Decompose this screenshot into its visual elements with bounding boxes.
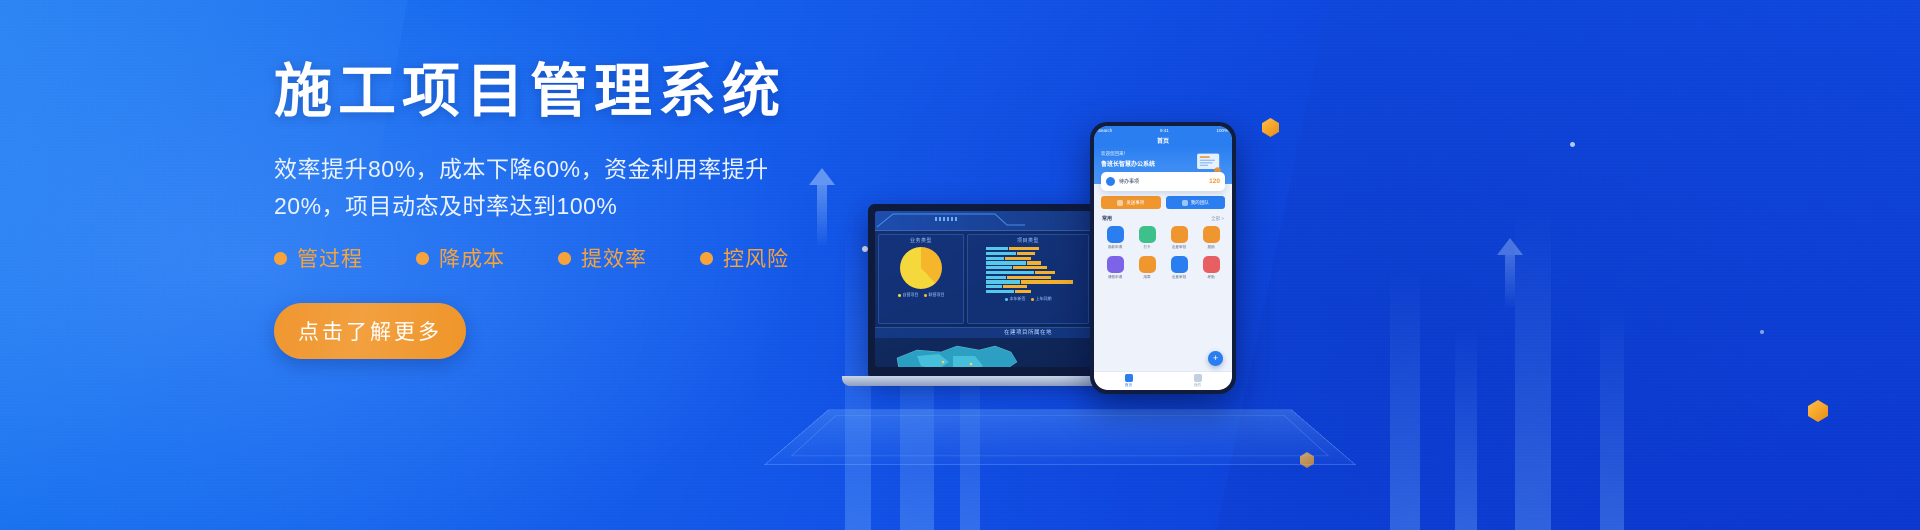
phone-todo-row: 待办事项 120 xyxy=(1106,177,1220,186)
bullet-item: 控风险 xyxy=(700,243,789,273)
up-arrow-icon xyxy=(1492,238,1528,307)
learn-more-button[interactable]: 点击了解更多 xyxy=(274,303,466,359)
bar-chart-panel: 项目类型 xyxy=(967,234,1089,324)
bullet-dot-icon xyxy=(700,252,713,265)
app-tile[interactable]: 出差审批 xyxy=(1164,226,1194,250)
app-tile[interactable]: 考勤 xyxy=(1196,256,1226,280)
bar-row xyxy=(986,266,1086,269)
decor-light-column xyxy=(1515,210,1551,530)
pie-chart-title: 业务类型 xyxy=(881,237,961,244)
phone-section-more[interactable]: 全部 > xyxy=(1211,216,1224,222)
home-icon xyxy=(1125,374,1133,382)
trip-approval-icon xyxy=(1171,256,1188,273)
china-map-icon xyxy=(883,340,1033,367)
bullet-dot-icon xyxy=(558,252,571,265)
phone-todo-card[interactable]: 待办事项 120 xyxy=(1101,172,1225,191)
send-icon xyxy=(1117,200,1123,206)
page-title: 施工项目管理系统 xyxy=(274,62,834,123)
seal-usage-icon xyxy=(1139,256,1156,273)
feature-bullet-list: 管过程 降成本 提效率 控风险 xyxy=(274,243,834,273)
bullet-dot-icon xyxy=(274,252,287,265)
app-label: 报销 xyxy=(1207,245,1214,250)
legend-item: 自营项目 xyxy=(898,292,919,298)
bar-row xyxy=(986,276,1086,279)
business-trip-icon xyxy=(1171,226,1188,243)
phone-nav-title: 首页 xyxy=(1157,136,1169,145)
decor-cube xyxy=(1808,400,1828,422)
phone-section-header: 常用 全部 > xyxy=(1094,209,1232,224)
subtitle-line-2: 20%，项目动态及时率达到100% xyxy=(274,193,617,219)
dashboard-header-deco-icon xyxy=(875,211,1025,231)
status-time: 9:41 xyxy=(1160,128,1169,133)
leave-request-icon xyxy=(1107,256,1124,273)
phone-todo-label: 待办事项 xyxy=(1119,178,1139,185)
payment-request-icon xyxy=(1107,226,1124,243)
reimbursement-icon xyxy=(1203,226,1220,243)
phone-section-title: 常用 xyxy=(1102,215,1112,222)
add-fab-button[interactable]: + xyxy=(1208,351,1223,366)
bullet-dot-icon xyxy=(416,252,429,265)
bar-chart-title: 项目类型 xyxy=(970,237,1086,244)
app-label: 请假申请 xyxy=(1108,275,1122,280)
status-carrier: Search xyxy=(1098,128,1112,133)
app-tile[interactable]: 请假申请 xyxy=(1100,256,1130,280)
app-label: 用章 xyxy=(1143,275,1150,280)
pie-chart-legend: 自营项目 联营项目 xyxy=(881,292,961,298)
send-task-button[interactable]: 发送事项 xyxy=(1101,196,1161,209)
bullet-label: 降成本 xyxy=(439,243,505,273)
tab-home[interactable]: 首页 xyxy=(1125,374,1133,388)
bullet-item: 降成本 xyxy=(416,243,505,273)
team-icon xyxy=(1182,200,1188,206)
my-team-button[interactable]: 我的团队 xyxy=(1166,196,1226,209)
bar-row xyxy=(986,257,1086,260)
phone-status-bar: Search 9:41 100% xyxy=(1094,126,1232,135)
app-tile[interactable]: 用章 xyxy=(1132,256,1162,280)
user-icon xyxy=(1194,374,1202,382)
pie-chart xyxy=(900,247,942,289)
bar-chart xyxy=(970,247,1086,293)
phone-app-grid-row2: 请假申请 用章 出差审批 考勤 xyxy=(1094,254,1232,280)
phone-mockup: Search 9:41 100% 首页 欢迎您回来！ 鲁班长智慧办公系统 xyxy=(1090,122,1236,394)
bar-row xyxy=(986,280,1086,283)
app-label: 出差审批 xyxy=(1172,245,1186,250)
decor-dot xyxy=(1760,330,1764,334)
decor-light-column xyxy=(1600,305,1624,530)
promo-banner: 施工项目管理系统 效率提升80%，成本下降60%，资金利用率提升 20%，项目动… xyxy=(0,0,1920,530)
banner-content: 施工项目管理系统 效率提升80%，成本下降60%，资金利用率提升 20%，项目动… xyxy=(274,62,834,359)
app-tile[interactable]: 用款申请 xyxy=(1100,226,1130,250)
send-task-label: 发送事项 xyxy=(1126,200,1144,206)
decor-light-column xyxy=(1455,330,1477,530)
bar-row xyxy=(986,261,1086,264)
bar-row xyxy=(986,271,1086,274)
decor-light-column xyxy=(1390,270,1420,530)
tab-label: 首页 xyxy=(1125,383,1132,388)
subtitle-line-1: 效率提升80%，成本下降60%，资金利用率提升 xyxy=(274,156,769,182)
tab-label: 我的 xyxy=(1194,383,1201,388)
bar-chart-legend: 本年新签 上年同期 xyxy=(970,296,1086,302)
clipboard-icon xyxy=(1106,177,1115,186)
app-label: 用款申请 xyxy=(1108,245,1122,250)
phone-tab-bar: 首页 我的 xyxy=(1094,371,1232,390)
phone-nav-bar: 首页 xyxy=(1094,135,1232,146)
app-label: 出差审批 xyxy=(1172,275,1186,280)
phone-screen: Search 9:41 100% 首页 欢迎您回来！ 鲁班长智慧办公系统 xyxy=(1094,126,1232,390)
device-stage: 市场管理报表 业务类型 自营项目 联营项目 项目类型 xyxy=(790,40,1350,510)
bar-row xyxy=(986,252,1086,255)
tab-profile[interactable]: 我的 xyxy=(1194,374,1202,388)
app-tile[interactable]: 打卡 xyxy=(1132,226,1162,250)
legend-item: 联营项目 xyxy=(924,292,945,298)
banner-subtitle: 效率提升80%，成本下降60%，资金利用率提升 20%，项目动态及时率达到100… xyxy=(274,151,794,226)
status-battery: 100% xyxy=(1216,128,1228,133)
attendance-icon xyxy=(1203,256,1220,273)
punch-clock-icon xyxy=(1139,226,1156,243)
app-tile[interactable]: 报销 xyxy=(1196,226,1226,250)
phone-quick-actions: 发送事项 我的团队 xyxy=(1094,196,1232,209)
pie-chart-panel: 业务类型 自营项目 联营项目 xyxy=(878,234,964,324)
bullet-label: 提效率 xyxy=(581,243,647,273)
bullet-item: 提效率 xyxy=(558,243,647,273)
app-label: 打卡 xyxy=(1143,245,1150,250)
bullet-item: 管过程 xyxy=(274,243,363,273)
my-team-label: 我的团队 xyxy=(1191,200,1209,206)
bar-row xyxy=(986,285,1086,288)
bar-row xyxy=(986,247,1086,250)
decor-pedestal xyxy=(764,410,1356,465)
app-tile[interactable]: 出差审批 xyxy=(1164,256,1194,280)
decor-dot xyxy=(1570,142,1575,147)
legend-item: 本年新签 xyxy=(1005,296,1026,302)
phone-todo-count: 120 xyxy=(1209,178,1220,185)
legend-item: 上年同期 xyxy=(1031,296,1052,302)
bullet-label: 控风险 xyxy=(723,243,789,273)
app-label: 考勤 xyxy=(1207,275,1214,280)
phone-todo-left: 待办事项 xyxy=(1106,177,1139,186)
phone-app-grid-row1: 用款申请 打卡 出差审批 报销 xyxy=(1094,224,1232,250)
bullet-label: 管过程 xyxy=(297,243,363,273)
bar-row xyxy=(986,290,1086,293)
